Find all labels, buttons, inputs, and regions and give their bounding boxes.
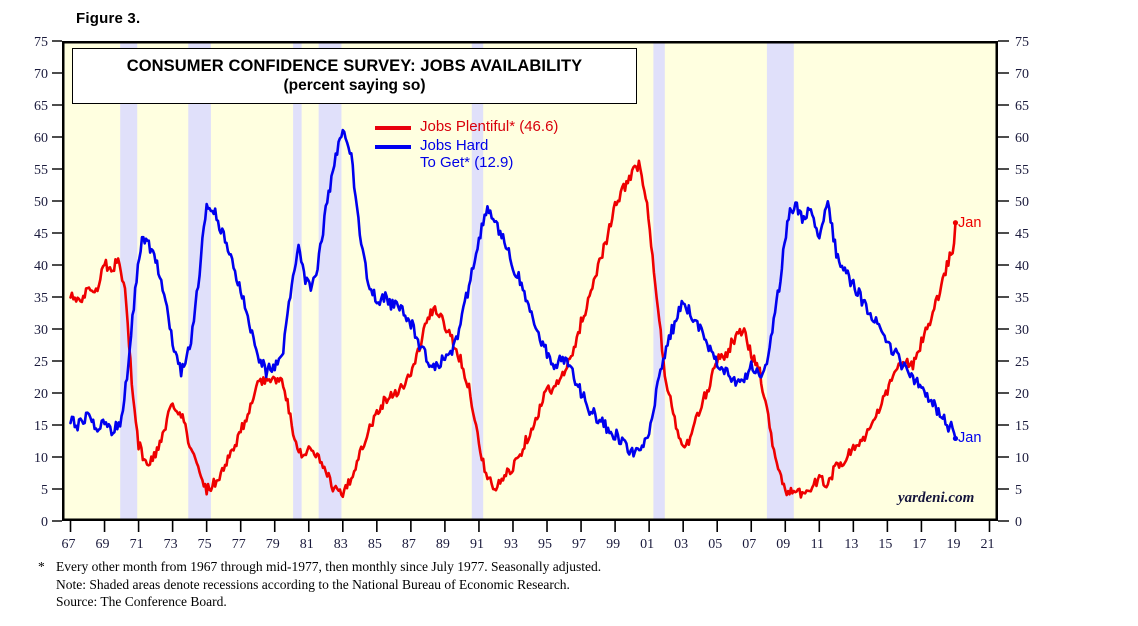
y-tick-label-right-12: 60 [1015,131,1029,146]
x-tick-label-16: 99 [606,537,620,552]
x-tick-label-15: 97 [572,537,586,552]
x-tick-label-26: 19 [946,537,960,552]
x-tick-label-9: 85 [368,537,382,552]
x-tick-label-25: 17 [912,537,926,552]
y-tick-label-right-13: 65 [1015,99,1029,114]
legend-swatch-blue [375,145,411,149]
y-tick-label-left-5: 25 [34,355,48,370]
end-label-jobs-hard-to-get: Jan [958,430,981,446]
x-tick-label-13: 93 [504,537,518,552]
x-tick-label-24: 15 [878,537,892,552]
y-tick-label-left-13: 65 [34,99,48,114]
footnotes: * Every other month from 1967 through mi… [38,558,898,611]
x-tick-label-7: 81 [300,537,314,552]
y-tick-label-left-1: 5 [41,483,48,498]
x-tick-label-12: 91 [470,537,484,552]
y-tick-label-right-14: 70 [1015,67,1029,82]
end-label-jobs-plentiful: Jan [958,215,981,231]
y-axis-right: 051015202530354045505560657075 [998,0,1138,560]
y-tick-label-right-7: 35 [1015,291,1029,306]
chart-title-line1: CONSUMER CONFIDENCE SURVEY: JOBS AVAILAB… [127,57,583,76]
y-tick-label-left-12: 60 [34,131,48,146]
x-tick-label-11: 89 [436,537,450,552]
x-tick-label-22: 11 [811,537,824,552]
y-tick-label-left-2: 10 [34,451,48,466]
y-tick-label-right-2: 10 [1015,451,1029,466]
legend-item-jobs-plentiful: Jobs Plentiful* (46.6) [375,118,558,135]
y-axis-left: 051015202530354045505560657075 [0,0,62,560]
y-tick-label-left-11: 55 [34,163,48,178]
y-tick-label-right-10: 50 [1015,195,1029,210]
y-tick-label-right-15: 75 [1015,35,1029,50]
x-tick-label-17: 01 [640,537,654,552]
x-tick-label-8: 83 [334,537,348,552]
recession-band-4 [472,41,483,521]
footnote-line-3: Source: The Conference Board. [38,593,898,611]
chart-plot-area [62,41,998,521]
chart-title-box: CONSUMER CONFIDENCE SURVEY: JOBS AVAILAB… [72,48,637,104]
x-tick-label-21: 09 [776,537,790,552]
x-tick-label-14: 95 [538,537,552,552]
y-tick-label-right-3: 15 [1015,419,1029,434]
footnote-line-1: Every other month from 1967 through mid-… [56,558,898,576]
chart-legend: Jobs Plentiful* (46.6) Jobs Hard To Get*… [375,118,558,173]
x-tick-label-2: 71 [130,537,144,552]
y-tick-label-left-6: 30 [34,323,48,338]
y-tick-label-right-1: 5 [1015,483,1022,498]
x-tick-label-10: 87 [402,537,416,552]
legend-item-jobs-hard-to-get: Jobs Hard To Get* (12.9) [375,137,558,171]
chart-svg [62,41,998,521]
y-tick-label-left-4: 20 [34,387,48,402]
legend-label-jobs-hard-to-get: Jobs Hard To Get* (12.9) [420,137,513,171]
footnote-marker: * [38,558,56,576]
x-tick-label-5: 77 [232,537,246,552]
recession-band-3 [319,41,342,521]
y-tick-label-left-14: 70 [34,67,48,82]
y-tick-label-right-6: 30 [1015,323,1029,338]
x-tick-label-3: 73 [164,537,178,552]
x-tick-label-23: 13 [844,537,858,552]
footnote-line-2: Note: Shaded areas denote recessions acc… [38,576,898,594]
y-tick-label-left-15: 75 [34,35,48,50]
legend-label-jobs-plentiful: Jobs Plentiful* (46.6) [420,118,558,135]
y-tick-label-right-5: 25 [1015,355,1029,370]
footnote-row-1: * Every other month from 1967 through mi… [38,558,898,576]
y-tick-label-left-10: 50 [34,195,48,210]
x-tick-label-1: 69 [96,537,110,552]
y-tick-label-left-7: 35 [34,291,48,306]
figure-label: Figure 3. [76,10,140,27]
y-tick-label-right-9: 45 [1015,227,1029,242]
y-tick-label-right-8: 40 [1015,259,1029,274]
y-tick-label-right-11: 55 [1015,163,1029,178]
x-tick-label-20: 07 [742,537,756,552]
y-tick-label-left-3: 15 [34,419,48,434]
x-tick-label-4: 75 [198,537,212,552]
y-tick-label-right-4: 20 [1015,387,1029,402]
y-tick-label-left-8: 40 [34,259,48,274]
watermark: yardeni.com [898,490,974,507]
x-tick-label-18: 03 [674,537,688,552]
y-tick-label-left-9: 45 [34,227,48,242]
legend-swatch-red [375,126,411,130]
chart-title-line2: (percent saying so) [283,77,425,95]
x-tick-label-19: 05 [708,537,722,552]
x-tick-label-0: 67 [62,537,76,552]
x-tick-label-6: 79 [266,537,280,552]
x-tick-label-27: 21 [980,537,994,552]
